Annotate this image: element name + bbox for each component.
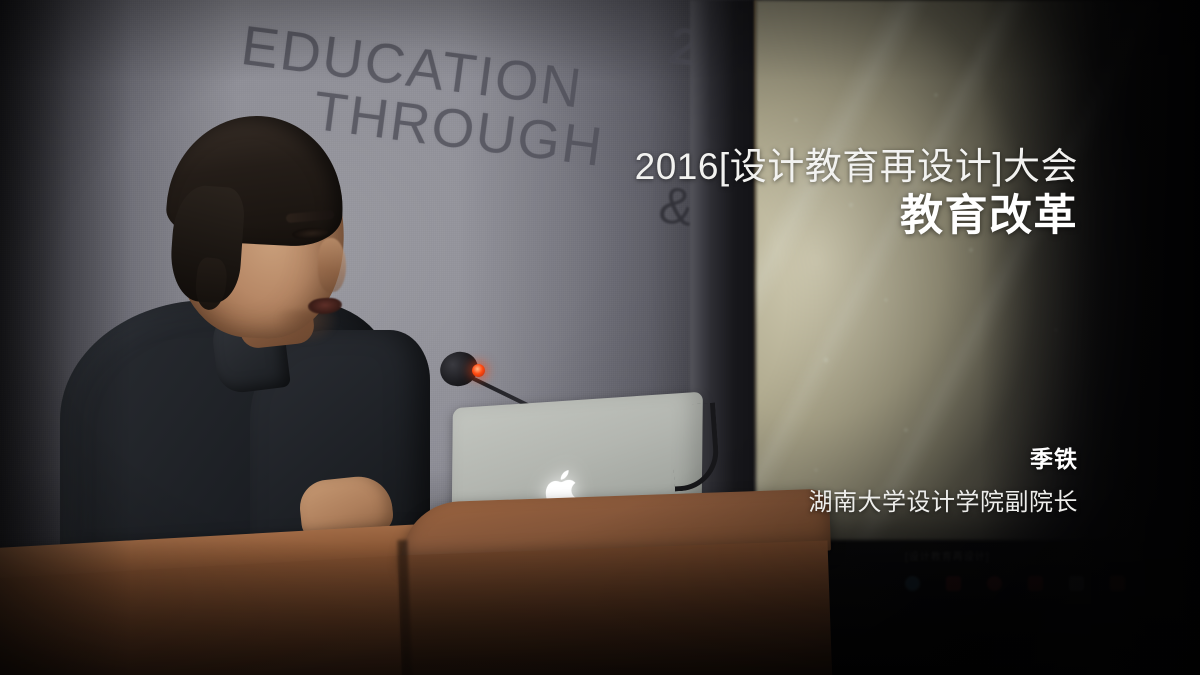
sponsor-wall: [设计教育再设计] — [905, 548, 1165, 626]
presenter-chin-shadow — [276, 310, 338, 344]
sponsor-logo-6-icon — [1110, 576, 1125, 591]
presenter-nose — [318, 238, 346, 292]
sponsor-logo-1-icon — [905, 576, 920, 591]
microphone-led-icon — [472, 364, 485, 377]
screenshot-stage: EDUCATION THROUGH 201 & TI — [0, 0, 1200, 675]
sponsor-logo-2-icon — [946, 576, 961, 591]
sponsor-logo-4-icon — [1028, 576, 1043, 591]
sponsor-logo-5-icon — [1069, 576, 1084, 591]
sponsor-wall-caption: [设计教育再设计] — [905, 548, 990, 563]
podium-front-body — [398, 541, 833, 675]
sponsor-logo-3-icon — [987, 576, 1002, 591]
sponsor-logo-row — [905, 576, 1125, 591]
